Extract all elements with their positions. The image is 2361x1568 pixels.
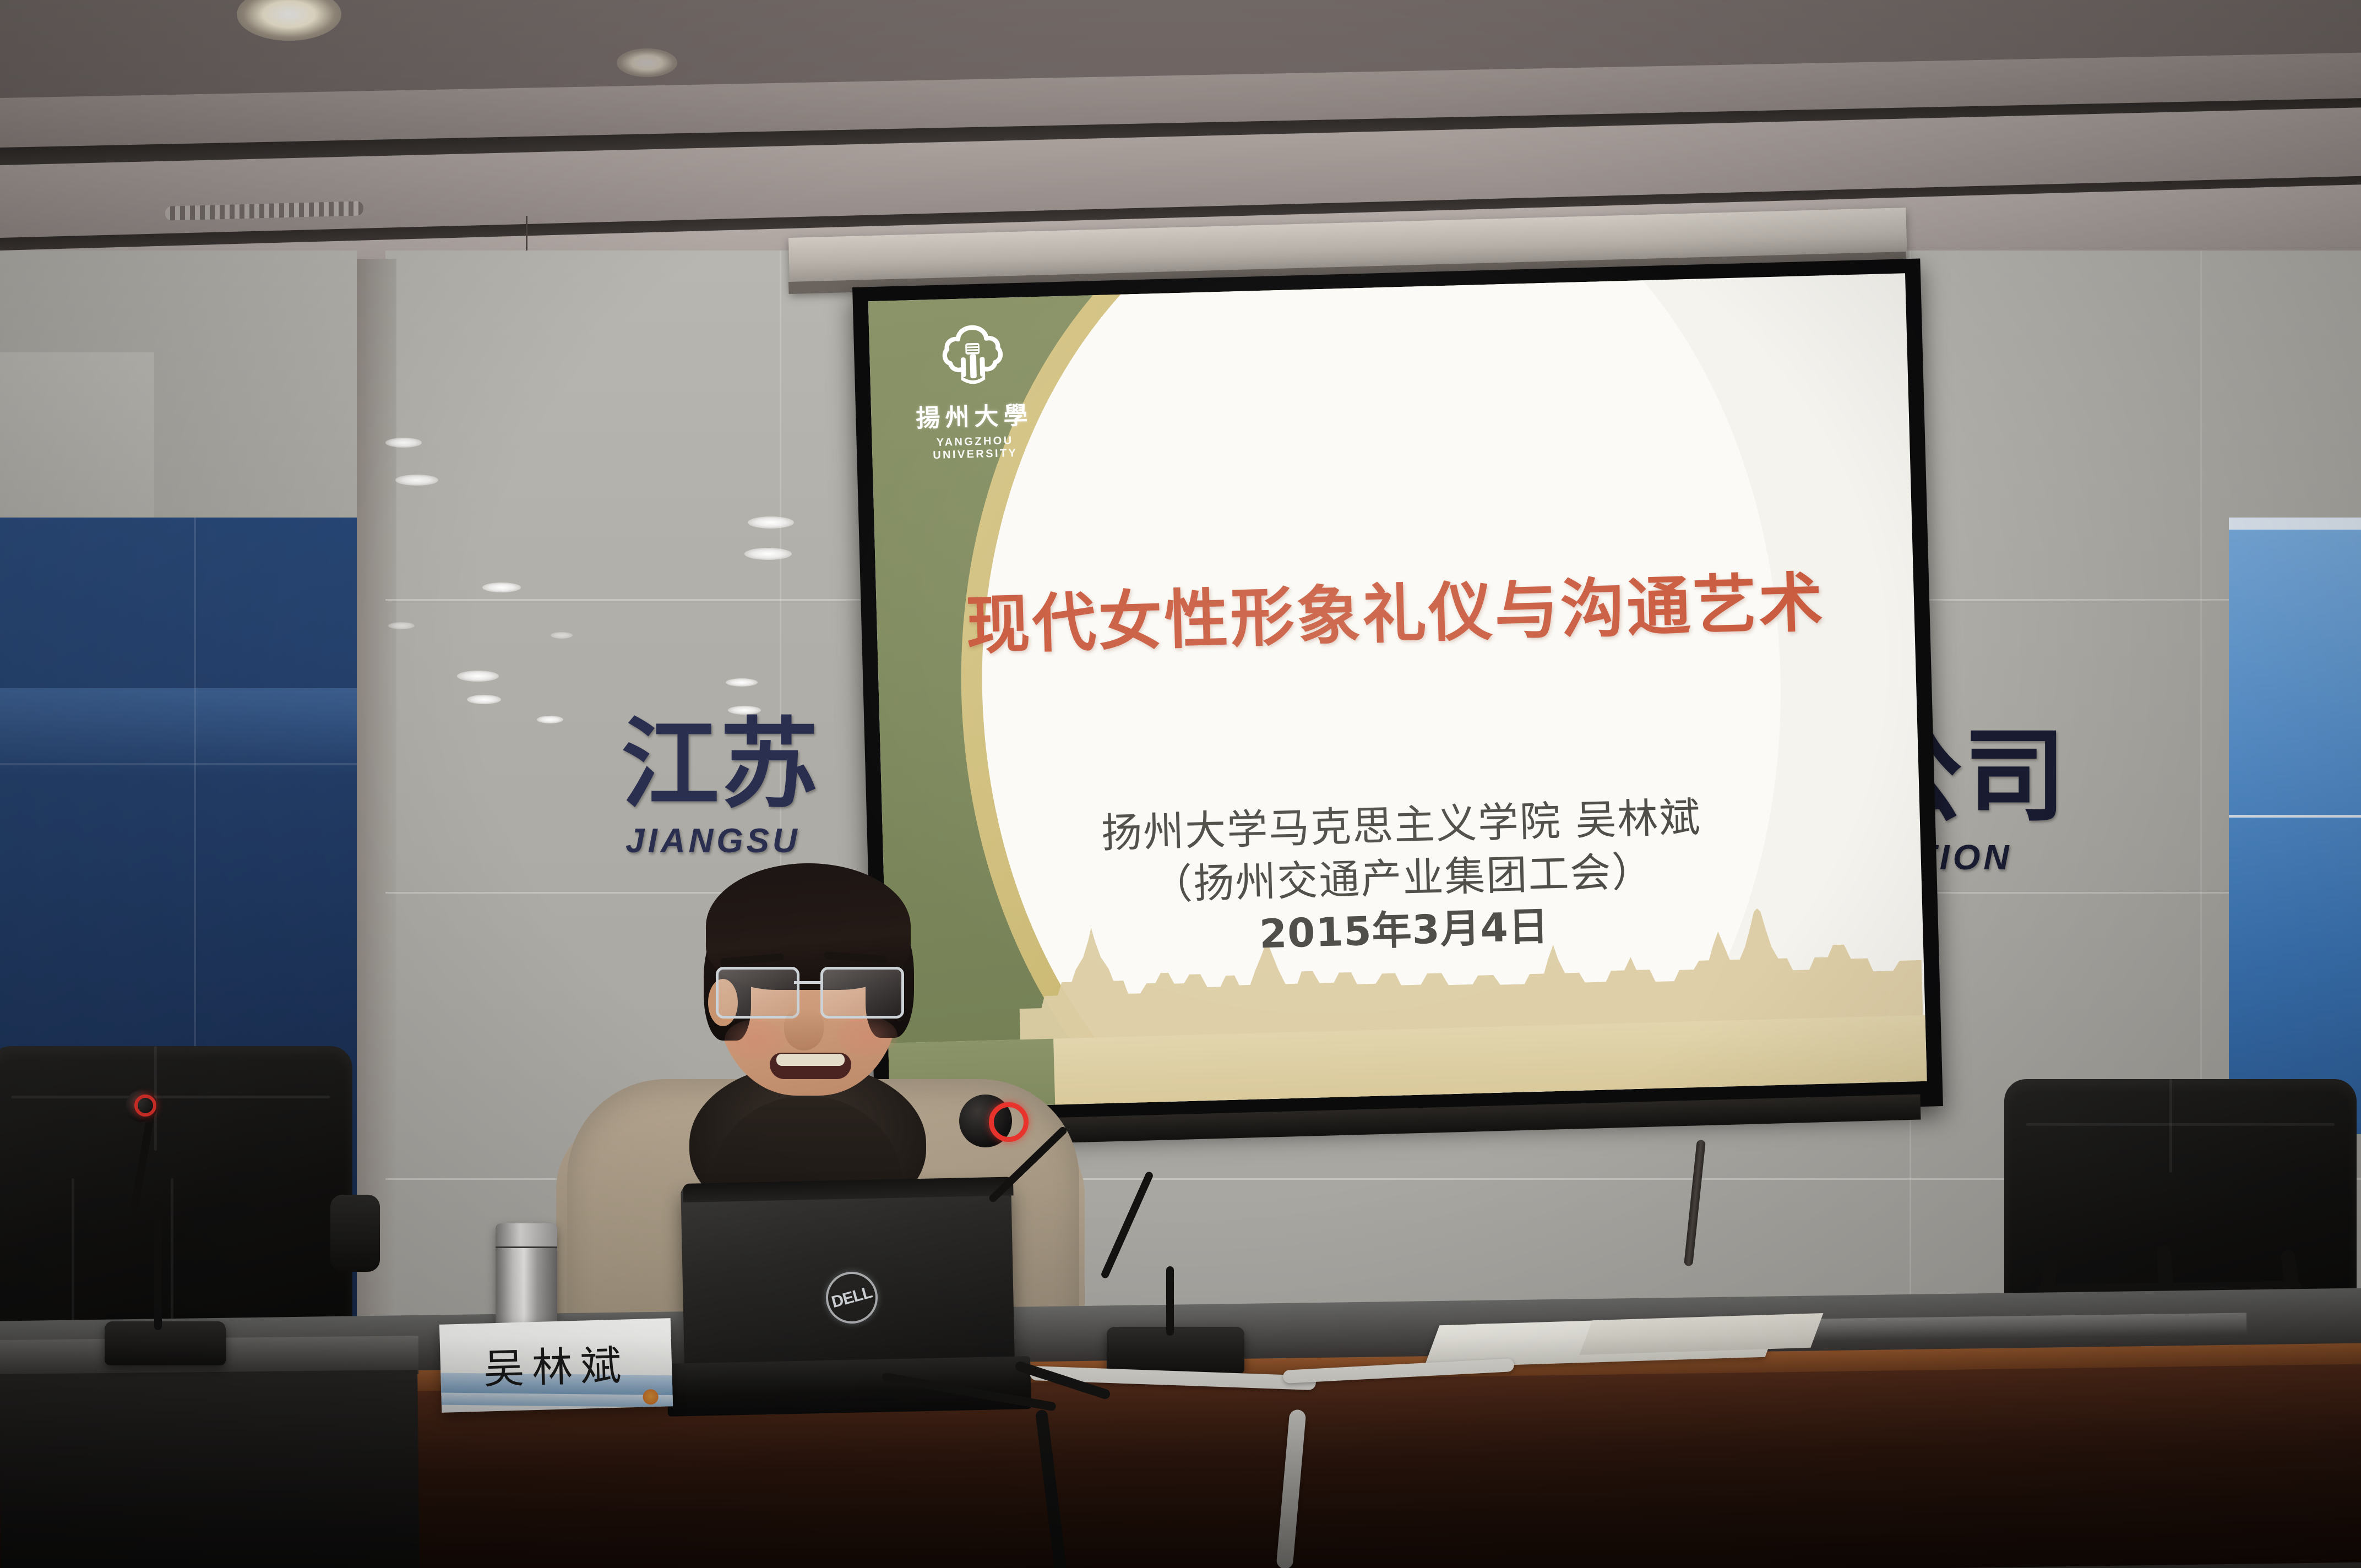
- wall-light-reflection: [551, 632, 573, 639]
- wall-light-reflection: [726, 678, 758, 687]
- wall-left-upper-inset: [0, 352, 154, 523]
- teeth: [776, 1054, 845, 1066]
- eyeglass-lens-right: [820, 967, 904, 1019]
- eyeglass-bridge: [794, 981, 820, 984]
- microphone-indicator-ring-speaker: [989, 1102, 1029, 1142]
- chair-seam: [11, 1096, 330, 1098]
- ceiling-downlight-secondary: [617, 48, 677, 77]
- wall-sign-jiangsu-english: JIANGSU: [625, 821, 819, 861]
- microphone-indicator-ring-left: [134, 1095, 156, 1117]
- backlit-panel-seam: [2229, 815, 2361, 818]
- wall-light-reflection: [385, 438, 422, 448]
- university-logo-english: YANGZHOU UNIVERSITY: [900, 433, 1049, 462]
- chair-armrest-left: [330, 1195, 380, 1272]
- wall-light-reflection: [482, 582, 521, 592]
- mouth: [770, 1053, 851, 1079]
- conference-chair-left: [0, 1046, 352, 1354]
- eyeglass-lens-left: [716, 967, 799, 1019]
- wall-light-reflection: [744, 548, 792, 560]
- backlit-panel-top-glow: [2229, 518, 2361, 530]
- acoustic-panel-highlight: [0, 688, 357, 776]
- wall-left-edge-strip: [352, 259, 396, 1327]
- wall-sign-jiangsu: 江苏 JIANGSU: [621, 716, 819, 861]
- wall-light-reflection: [395, 475, 438, 486]
- microphone-stem-left: [154, 1200, 162, 1330]
- wall-light-reflection: [457, 671, 499, 682]
- yangzhou-university-emblem-icon: [937, 319, 1009, 391]
- nameplate-name: 吴林斌: [440, 1331, 673, 1397]
- wall-light-reflection: [537, 716, 563, 723]
- nose: [784, 1009, 824, 1050]
- university-logo: 揚州大學 YANGZHOU UNIVERSITY: [897, 319, 1050, 463]
- desk-nameplate: 吴林斌: [439, 1318, 673, 1413]
- wall-light-reflection: [467, 695, 501, 704]
- laptop-brand-text: DELL: [830, 1283, 874, 1312]
- microphone-base-left[interactable]: [105, 1321, 226, 1365]
- wall-light-reflection: [388, 622, 415, 629]
- laptop-base: [667, 1356, 1031, 1417]
- wall-light-reflection: [748, 516, 794, 529]
- chair-seam: [72, 1178, 74, 1321]
- backlit-wall-panel-right: [2229, 518, 2361, 1134]
- microphone-stem-speaker: [1166, 1266, 1174, 1336]
- chair-seam: [2169, 1079, 2172, 1173]
- cheek-right: [837, 1016, 897, 1056]
- thermos-cap: [496, 1223, 557, 1248]
- presentation-room-photo: 江苏 JIANGSU 公司 RATION ❄Redleaf: [0, 0, 2361, 1568]
- chair-seam: [171, 1178, 173, 1321]
- table-ledge-left-front: [0, 1370, 420, 1568]
- chair-seam: [2026, 1123, 2335, 1126]
- university-logo-chinese: 揚州大學: [900, 395, 1049, 434]
- wall-sign-jiangsu-chinese: 江苏: [621, 716, 819, 814]
- microphone-base-speaker[interactable]: [1107, 1327, 1244, 1374]
